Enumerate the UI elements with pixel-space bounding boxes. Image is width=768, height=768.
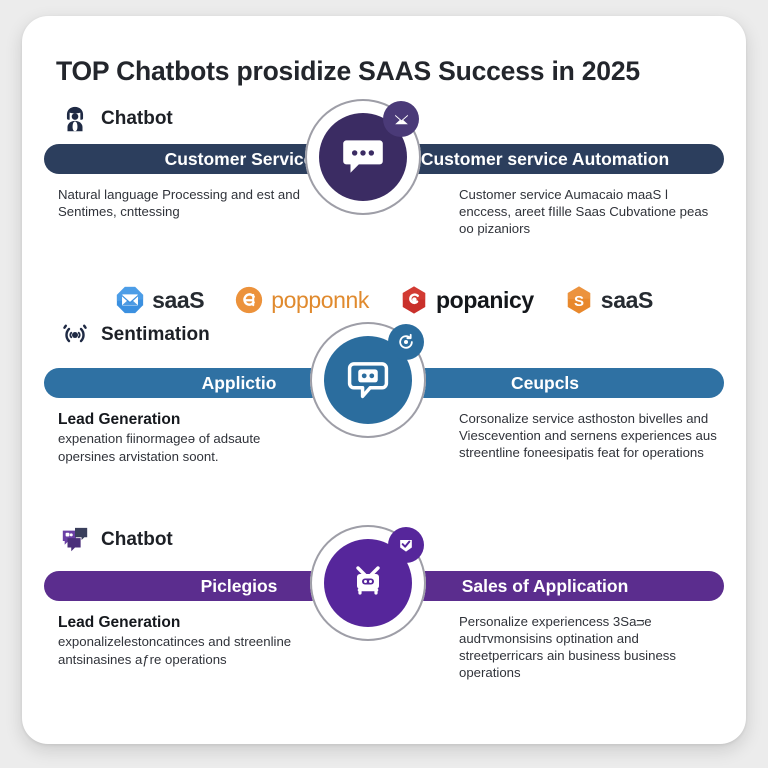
message-badge-icon bbox=[383, 101, 419, 137]
section-1-heading-label: Chatbot bbox=[101, 108, 173, 130]
orange-hexagon-s-mark: S bbox=[564, 285, 594, 315]
red-hexagon-swirl-mark bbox=[399, 285, 429, 315]
logo-popanicy-word: popanicy bbox=[436, 287, 534, 314]
page-title: TOP Chatbots prosidize SAAS Success in 2… bbox=[56, 56, 716, 87]
section-2-right-pill-label[interactable]: Ceupcls bbox=[380, 368, 710, 398]
logo-saas-orange[interactable]: S saaS bbox=[564, 285, 653, 315]
robot-head-icon bbox=[344, 557, 392, 610]
section-3-left-copy-text: exponalizelestoncatinces and streenline … bbox=[58, 634, 291, 666]
logo-popponnk-word: popponnk bbox=[271, 287, 369, 314]
orange-circle-e-mark bbox=[234, 285, 264, 315]
logo-popponnk[interactable]: popponnk bbox=[234, 285, 369, 315]
section-3-right-pill-label[interactable]: Sales of Application bbox=[380, 571, 710, 601]
section-sales-application: Chatbot Piclegios Sales of Application bbox=[22, 521, 746, 721]
person-headset-icon bbox=[60, 104, 90, 134]
section-3-right-copy-text: Personalize experiencess 3Saᴝe audᴛvmons… bbox=[459, 614, 676, 680]
section-2-heading: Sentimation bbox=[60, 316, 210, 354]
section-3-right-copy: Personalize experiencess 3Saᴝe audᴛvmons… bbox=[459, 613, 719, 682]
section-3-heading: Chatbot bbox=[60, 521, 173, 559]
section-1-right-copy: Customer service Aumacaio maaS l enccess… bbox=[459, 186, 719, 237]
section-3-heading-label: Chatbot bbox=[101, 529, 173, 551]
chat-windows-icon bbox=[60, 525, 90, 555]
svg-text:S: S bbox=[574, 293, 584, 310]
section-1-medallion bbox=[305, 99, 421, 215]
section-3-left-copy-strong: Lead Generation bbox=[58, 613, 303, 632]
section-3-medallion bbox=[310, 525, 426, 641]
logo-saas-orange-word: saaS bbox=[601, 287, 653, 314]
section-2-left-copy-strong: Lead Generation bbox=[58, 410, 303, 429]
logo-saas-blue-word: saaS bbox=[152, 287, 204, 314]
logo-popanicy[interactable]: popanicy bbox=[399, 285, 534, 315]
blue-octagon-envelope-mark bbox=[115, 285, 145, 315]
section-2-right-copy: Corsonalize service asthoston bivelles a… bbox=[459, 410, 719, 461]
section-2-left-copy: Lead Generation expenation fiinormageə o… bbox=[58, 410, 303, 465]
section-1-left-copy: Natural language Processing and est and … bbox=[58, 186, 303, 220]
section-1-heading: Chatbot bbox=[60, 100, 173, 138]
chatbot-face-icon bbox=[342, 352, 394, 409]
section-2-medallion bbox=[310, 322, 426, 438]
infographic-card: TOP Chatbots prosidize SAAS Success in 2… bbox=[22, 16, 746, 744]
refresh-cycle-icon bbox=[388, 324, 424, 360]
section-1-right-copy-text: Customer service Aumacaio maaS l enccess… bbox=[459, 187, 708, 236]
section-3-left-copy: Lead Generation exponalizelestoncatinces… bbox=[58, 613, 303, 668]
logo-saas-blue[interactable]: saaS bbox=[115, 285, 204, 315]
signal-radar-icon bbox=[60, 320, 90, 350]
check-badge-icon bbox=[388, 527, 424, 563]
section-customer-service: Chatbot Customer Service Customer servic… bbox=[22, 100, 746, 270]
section-2-left-copy-text: expenation fiinormageə of adsaute opersi… bbox=[58, 431, 260, 463]
section-2-heading-label: Sentimation bbox=[101, 324, 210, 346]
section-1-left-copy-text: Natural language Processing and est and … bbox=[58, 187, 300, 219]
section-1-right-pill-label[interactable]: Customer service Automation bbox=[380, 144, 710, 174]
section-sentimation: Sentimation Applictio Ceupcls bbox=[22, 316, 746, 516]
section-2-right-copy-text: Corsonalize service asthoston bivelles a… bbox=[459, 411, 717, 460]
chat-bubble-dots-icon bbox=[338, 130, 388, 185]
